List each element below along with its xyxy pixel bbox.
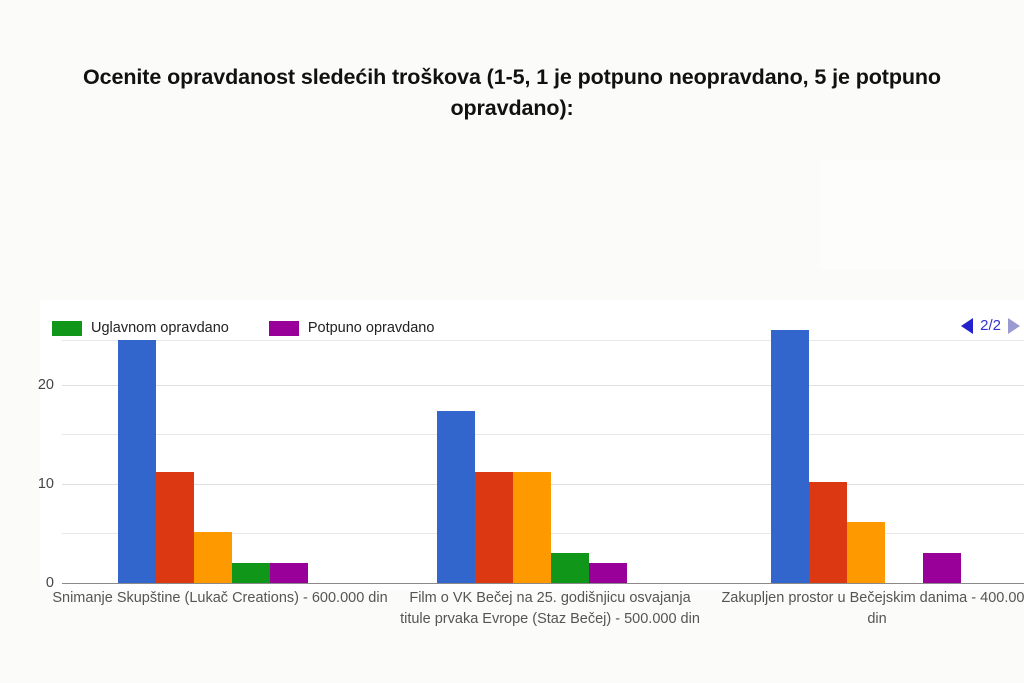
bar[interactable] [771,330,809,583]
bar[interactable] [194,532,232,583]
bar-group [118,313,308,583]
chart-legend: Uglavnom opravdano Potpuno opravdano [52,318,474,338]
bar[interactable] [551,553,589,583]
ytick-label-10: 10 [14,476,54,492]
triangle-left-icon[interactable] [961,318,973,334]
legend-swatch-green [52,321,82,336]
bar[interactable] [118,340,156,583]
bar[interactable] [513,472,551,583]
bar[interactable] [156,472,194,583]
legend-label: Uglavnom opravdano [91,320,229,336]
xaxis-label: Snimanje Skupštine (Lukač Creations) - 6… [45,588,395,609]
bar[interactable] [475,472,513,583]
legend-item-potpuno-opravdano[interactable]: Potpuno opravdano [269,320,435,336]
triangle-right-icon[interactable] [1008,318,1020,334]
legend-item-uglavnom-opravdano[interactable]: Uglavnom opravdano [52,320,229,336]
bar-group [437,313,627,583]
ytick-label-20: 20 [14,377,54,393]
legend-label: Potpuno opravdano [308,320,435,336]
axis-baseline [62,583,1024,584]
legend-pagination[interactable]: 2/2 [961,317,1024,334]
bar[interactable] [809,482,847,583]
legend-page-indicator: 2/2 [980,317,1001,334]
bar[interactable] [437,411,475,583]
bar[interactable] [270,563,308,583]
decorative-panel [820,160,1024,270]
legend-swatch-purple [269,321,299,336]
bar-group [771,313,961,583]
bar[interactable] [923,553,961,583]
bar[interactable] [232,563,270,583]
xaxis-label: Zakupljen prostor u Bečejskim danima - 4… [712,588,1024,629]
bar-chart: Uglavnom opravdano Potpuno opravdano 2/2… [0,300,1024,683]
page-title: Ocenite opravdanost sledećih troškova (1… [62,62,962,123]
bar[interactable] [847,522,885,583]
bar[interactable] [589,563,627,583]
xaxis-label: Film o VK Bečej na 25. godišnjicu osvaja… [400,588,700,629]
